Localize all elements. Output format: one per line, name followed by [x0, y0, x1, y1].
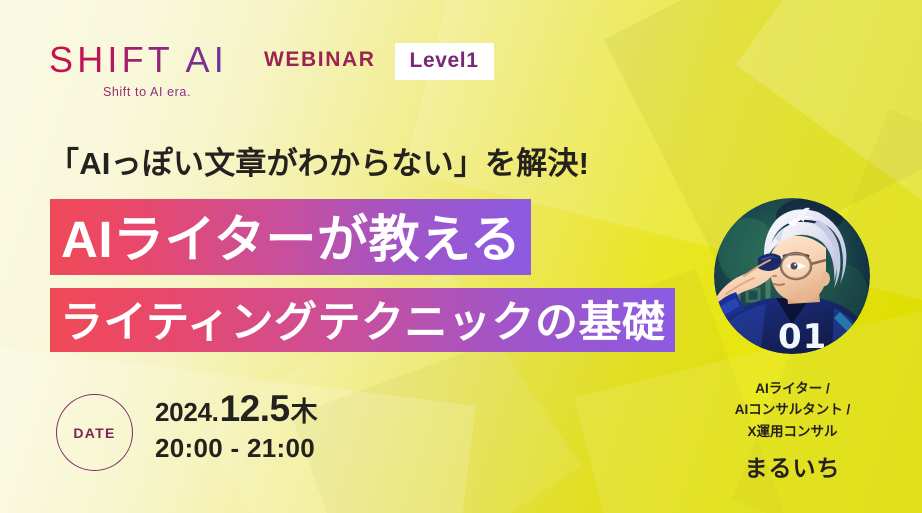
- title-line-1: AIライターが教える: [50, 199, 531, 275]
- date-line: 2024. 12.5 木: [155, 390, 318, 427]
- speaker-role-line: AIライター /: [690, 378, 895, 399]
- title-line-2: ライティングテクニックの基礎: [50, 288, 675, 352]
- anime-avatar-icon: 01: [714, 198, 870, 354]
- date-year: 2024.: [155, 399, 219, 425]
- speaker-role: AIライター / AIコンサルタント / X運用コンサル: [690, 378, 895, 442]
- level-badge: Level1: [395, 43, 494, 80]
- logo-tagline: Shift to AI era.: [49, 85, 245, 99]
- svg-text:01: 01: [778, 317, 827, 354]
- header: SHIFT AI Shift to AI era. WEBINAR Level1: [49, 42, 494, 99]
- date-circle-label: DATE: [56, 394, 133, 471]
- speaker-name: まるいち: [690, 449, 895, 483]
- date-text-block: 2024. 12.5 木 20:00 - 21:00: [155, 390, 318, 461]
- speaker-info: AIライター / AIコンサルタント / X運用コンサル まるいち: [690, 378, 895, 483]
- lead-copy: 「AIっぽい文章がわからない」を解決!: [48, 138, 589, 183]
- date-day-of-week: 木: [291, 399, 318, 426]
- speaker-role-line: AIコンサルタント /: [690, 399, 895, 420]
- date-day: 12.5: [220, 390, 290, 427]
- webinar-banner: SHIFT AI Shift to AI era. WEBINAR Level1…: [0, 0, 922, 513]
- speaker-role-line: X運用コンサル: [690, 421, 895, 442]
- time-range: 20:00 - 21:00: [155, 435, 318, 461]
- shift-ai-logo: SHIFT AI Shift to AI era.: [49, 42, 245, 99]
- webinar-label: WEBINAR: [264, 48, 376, 72]
- logo-wordmark: SHIFT AI: [49, 42, 245, 78]
